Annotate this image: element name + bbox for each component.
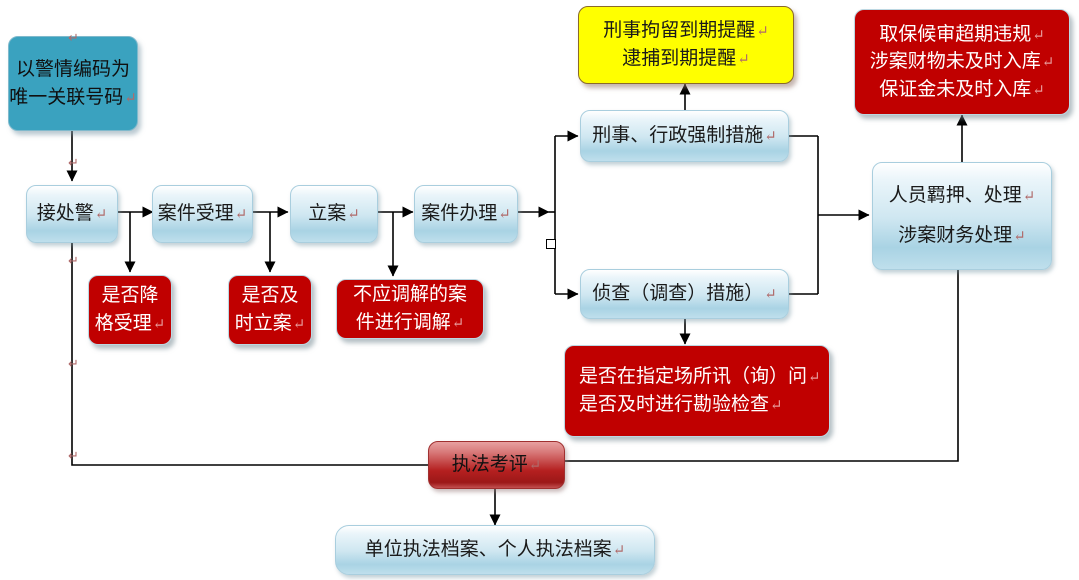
node-improper-mediation[interactable]: 不应调解的案 件进行调解↵ bbox=[336, 279, 484, 339]
stray-pilcrow-left-4: ↵ bbox=[68, 448, 79, 464]
node-downgrade-check-line-1: 是否降 bbox=[101, 282, 158, 310]
stray-pilcrow-top: ↵ bbox=[68, 30, 79, 46]
node-case-filing[interactable]: 立案↵ bbox=[290, 185, 378, 243]
node-coercive-measures-label: 刑事、行政强制措施↵ bbox=[592, 122, 776, 150]
stray-pilcrow-left-2: ↵ bbox=[68, 253, 79, 269]
node-interrogation-check-line-2: 是否及时进行勘验检查↵ bbox=[579, 391, 782, 419]
node-timely-filing-check[interactable]: 是否及 时立案↵ bbox=[228, 275, 312, 345]
node-custody-property[interactable]: 人员羁押、处理↵ 涉案财务处理↵ bbox=[872, 162, 1052, 270]
node-timely-filing-check-line-1: 是否及 bbox=[241, 282, 298, 310]
node-custody-property-line-2: 涉案财务处理↵ bbox=[898, 216, 1025, 256]
node-case-handling[interactable]: 案件办理↵ bbox=[414, 185, 518, 243]
node-case-handling-label: 案件办理↵ bbox=[421, 200, 510, 228]
node-detention-reminder-line-1: 刑事拘留到期提醒↵ bbox=[603, 17, 768, 45]
stray-pilcrow-left-1: ↵ bbox=[68, 155, 79, 171]
connector-handle[interactable] bbox=[546, 239, 556, 249]
node-case-acceptance[interactable]: 案件受理↵ bbox=[152, 185, 253, 243]
node-receive-alarm-label: 接处警↵ bbox=[37, 200, 107, 228]
flowchart-canvas: 以警情编码为 唯一关联号码↵ 接处警↵ 案件受理↵ 立案↵ 案件办理↵ 是否降 … bbox=[0, 0, 1079, 580]
node-downgrade-check-line-2: 格受理↵ bbox=[95, 310, 165, 338]
node-detention-reminder[interactable]: 刑事拘留到期提醒↵ 逮捕到期提醒↵ bbox=[578, 6, 794, 84]
node-coercive-measures[interactable]: 刑事、行政强制措施↵ bbox=[580, 110, 789, 162]
node-bail-violation-line-1: 取保候审超期违规↵ bbox=[879, 21, 1044, 49]
node-downgrade-check[interactable]: 是否降 格受理↵ bbox=[88, 275, 172, 345]
node-interrogation-check[interactable]: 是否在指定场所讯（询）问↵ 是否及时进行勘验检查↵ bbox=[564, 345, 830, 437]
node-receive-alarm[interactable]: 接处警↵ bbox=[26, 185, 118, 243]
node-unique-code-line-2: 唯一关联号码↵ bbox=[9, 84, 136, 112]
node-bail-violation[interactable]: 取保候审超期违规↵ 涉案财物未及时入库↵ 保证金未及时入库↵ bbox=[854, 9, 1070, 115]
node-interrogation-check-line-1: 是否在指定场所讯（询）问↵ bbox=[579, 363, 820, 391]
stray-pilcrow-left-3: ↵ bbox=[68, 356, 79, 372]
node-unique-code-line-1: 以警情编码为 bbox=[16, 56, 130, 84]
node-improper-mediation-line-1: 不应调解的案 bbox=[353, 281, 467, 309]
node-bail-violation-line-2: 涉案财物未及时入库↵ bbox=[870, 48, 1054, 76]
node-law-archives-label: 单位执法档案、个人执法档案↵ bbox=[365, 536, 625, 564]
node-unique-code[interactable]: 以警情编码为 唯一关联号码↵ bbox=[8, 36, 138, 131]
node-timely-filing-check-line-2: 时立案↵ bbox=[235, 310, 305, 338]
node-bail-violation-line-3: 保证金未及时入库↵ bbox=[879, 76, 1044, 104]
node-case-filing-label: 立案↵ bbox=[308, 200, 359, 228]
node-custody-property-line-1: 人员羁押、处理↵ bbox=[889, 176, 1035, 216]
node-case-acceptance-label: 案件受理↵ bbox=[158, 200, 247, 228]
node-investigation-measures-label: 侦查（调查）措施）↵ bbox=[592, 280, 776, 308]
node-law-evaluation-label: 执法考评↵ bbox=[452, 451, 541, 479]
node-law-evaluation[interactable]: 执法考评↵ bbox=[428, 441, 565, 489]
node-investigation-measures[interactable]: 侦查（调查）措施）↵ bbox=[580, 269, 789, 319]
node-law-archives[interactable]: 单位执法档案、个人执法档案↵ bbox=[335, 525, 655, 575]
node-detention-reminder-line-2: 逮捕到期提醒↵ bbox=[622, 45, 749, 73]
node-improper-mediation-line-2: 件进行调解↵ bbox=[356, 309, 464, 337]
